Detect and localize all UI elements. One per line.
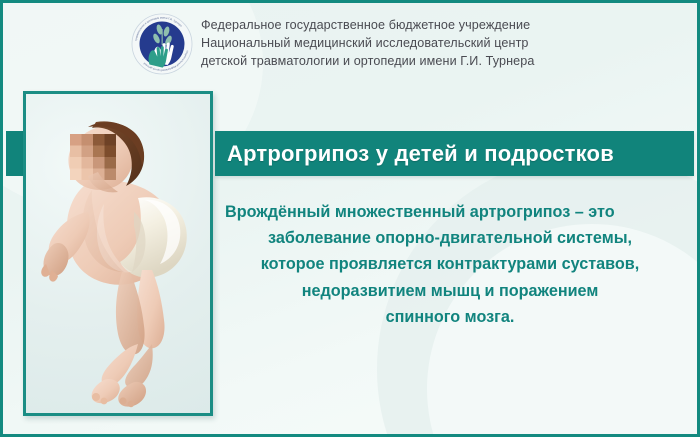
org-line-2: Национальный медицинский исследовательск… xyxy=(201,35,534,53)
description-line-3: которое проявляется контрактурами сустав… xyxy=(215,251,685,277)
institute-emblem-logo: травматологии и ортопедии имени Г.И. Тур… xyxy=(131,13,193,75)
title-banner: Артрогрипоз у детей и подростков xyxy=(215,131,694,176)
org-line-1: Федеральное государственное бюджетное уч… xyxy=(201,17,534,35)
description-line-1: Врождённый множественный артрогрипоз – э… xyxy=(215,199,685,225)
patient-photo-image xyxy=(26,94,210,413)
description-line-5: спинного мозга. xyxy=(215,304,685,330)
description-line-2: заболевание опорно-двигательной системы, xyxy=(215,225,685,251)
infographic-poster: травматологии и ортопедии имени Г.И. Тур… xyxy=(0,0,700,437)
description-text: Врождённый множественный артрогрипоз – э… xyxy=(215,199,685,330)
patient-photo xyxy=(23,91,213,416)
org-line-3: детской травматологии и ортопедии имени … xyxy=(201,53,534,71)
organization-name: Федеральное государственное бюджетное уч… xyxy=(201,17,534,71)
description-line-4: недоразвитием мышц и поражением xyxy=(215,278,685,304)
header: травматологии и ортопедии имени Г.И. Тур… xyxy=(3,3,697,85)
page-title: Артрогрипоз у детей и подростков xyxy=(215,141,614,167)
